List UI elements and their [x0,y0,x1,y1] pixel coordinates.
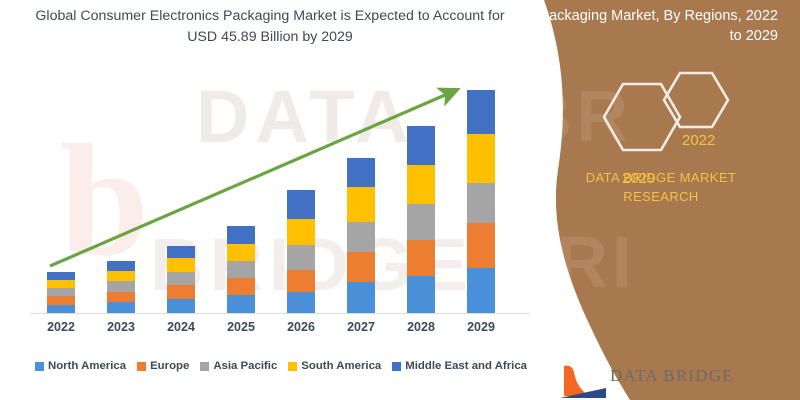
logo-wordmark: DATA BRIDGE [610,366,734,386]
hexagon-group: 2029 2022 [592,62,752,172]
legend-label: North America [48,360,126,372]
legend-item-south-america[interactable]: South America [288,360,381,372]
legend-item-north-america[interactable]: North America [35,360,126,372]
hexagon-2022-shape [664,73,728,127]
panel-brand-name: DATA BRIDGE MARKET RESEARCH [536,168,786,206]
hexagon-shapes [592,62,752,172]
chart-legend: North AmericaEuropeAsia PacificSouth Ame… [26,360,536,372]
legend-swatch-icon [137,362,146,371]
legend-item-middle-east-and-africa[interactable]: Middle East and Africa [392,360,527,372]
legend-label: Asia Pacific [213,360,277,372]
panel-brand-line2: RESEARCH [536,187,786,206]
legend-label: Europe [150,360,189,372]
legend-item-asia-pacific[interactable]: Asia Pacific [200,360,277,372]
panel-title: Packaging Market, By Regions, 2022 to 20… [538,6,778,46]
legend-item-europe[interactable]: Europe [137,360,189,372]
page-title: Global Consumer Electronics Packaging Ma… [20,6,520,48]
legend-label: Middle East and Africa [405,360,527,372]
growth-trend-arrow-icon [0,0,545,340]
legend-swatch-icon [392,362,401,371]
legend-swatch-icon [200,362,209,371]
bridge-logo-mark-icon [560,362,606,398]
panel-brand-line1: DATA BRIDGE MARKET [536,168,786,187]
legend-swatch-icon [288,362,297,371]
data-bridge-logo: DATA BRIDGE [560,362,790,400]
hexagon-2022-label: 2022 [682,132,715,149]
infographic-canvas: b DATA BRIDGE BR BRI Packaging Market, B… [0,0,800,400]
legend-swatch-icon [35,362,44,371]
legend-label: South America [301,360,381,372]
stacked-bar-chart: 20222023202420252026202720282029 [0,0,545,400]
